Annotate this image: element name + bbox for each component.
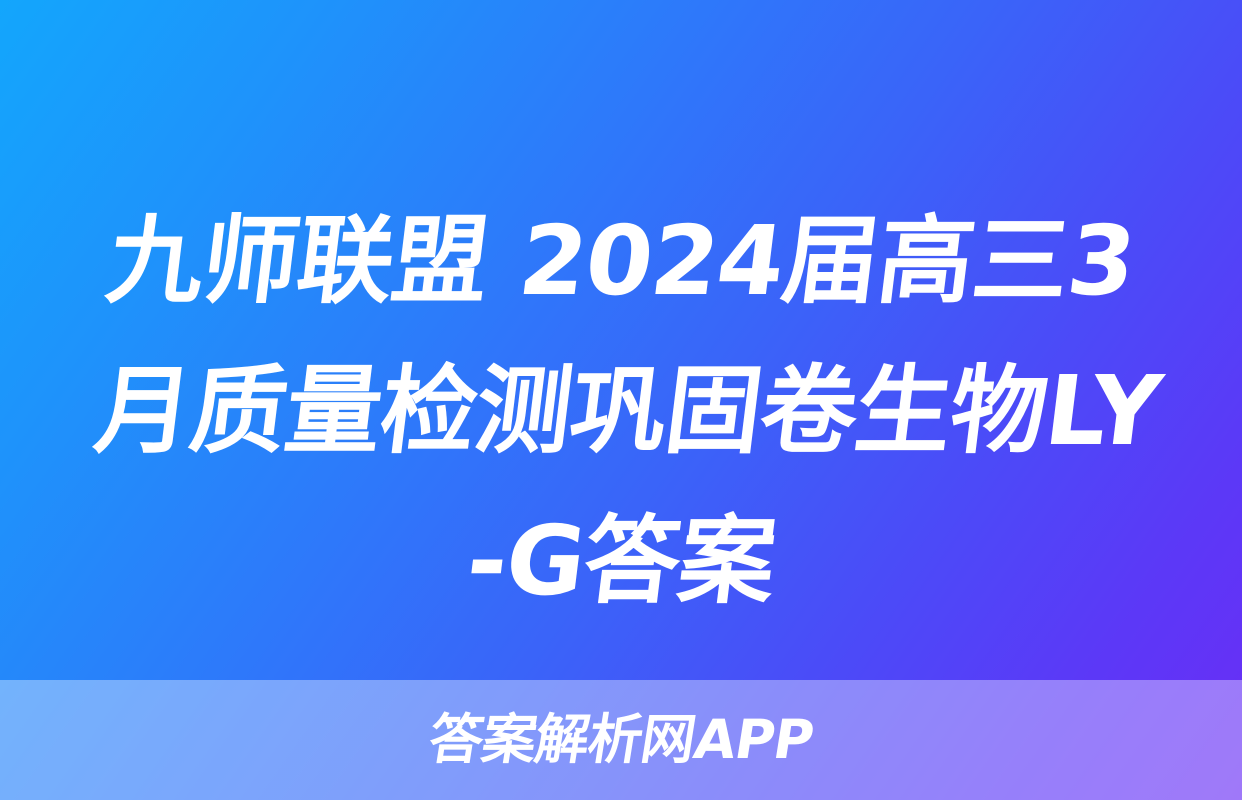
poster-canvas: 九师联盟 2024届高三3 月质量检测巩固卷生物LY -G答案 答案解析网APP: [0, 0, 1242, 800]
title-line-2: 月质量检测巩固卷生物LY: [87, 336, 1155, 486]
title-line-3: -G答案: [87, 486, 1155, 636]
poster-title: 九师联盟 2024届高三3 月质量检测巩固卷生物LY -G答案: [96, 186, 1146, 636]
title-line-1: 九师联盟 2024届高三3: [87, 186, 1155, 336]
watermark-label: 答案解析网APP: [0, 708, 1242, 772]
